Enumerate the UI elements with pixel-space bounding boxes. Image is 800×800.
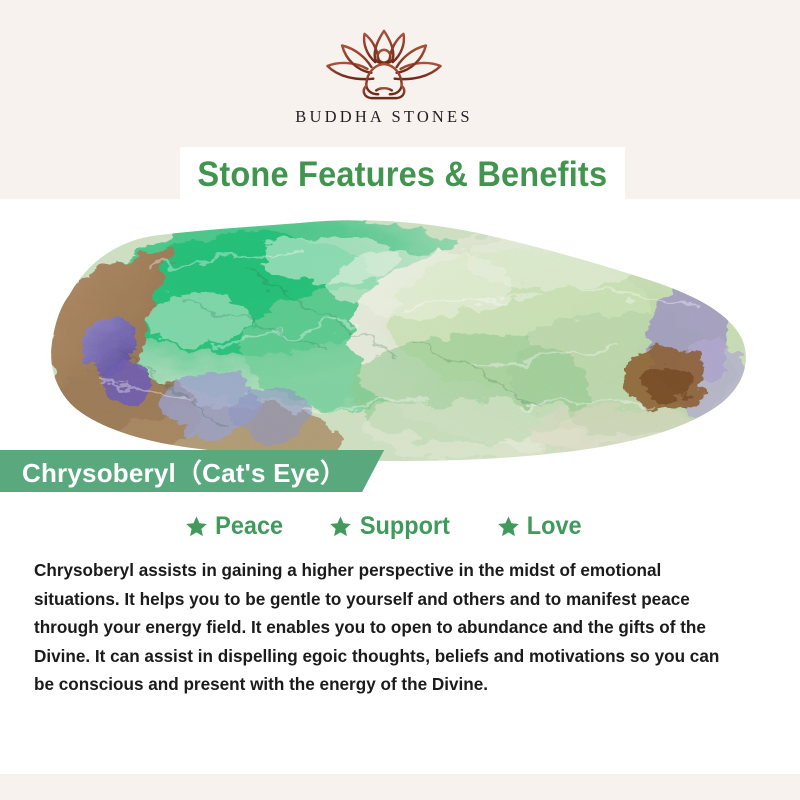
content-area: Peace Support Love Chrysoberyl assists i… [0, 504, 800, 774]
header: BUDDHA STONES Stone Features & Benefits [0, 0, 800, 199]
benefits-list: Peace Support Love [0, 512, 768, 541]
page-title-band: Stone Features & Benefits [180, 147, 625, 203]
brand-logo: BUDDHA STONES [0, 26, 768, 146]
benefit-label: Love [527, 512, 582, 541]
benefit-label: Peace [215, 512, 283, 541]
stone-description: Chrysoberyl assists in gaining a higher … [34, 556, 735, 699]
star-icon [185, 515, 208, 538]
header-inner: BUDDHA STONES Stone Features & Benefits [0, 16, 768, 199]
stone-name-banner: Chrysoberyl（Cat's Eye） [0, 450, 384, 492]
lotus-meditation-icon [309, 26, 459, 104]
footer-padding [0, 774, 800, 800]
benefit-label: Support [360, 512, 450, 541]
benefit-item-love: Love [497, 512, 583, 541]
infographic-card: BUDDHA STONES Stone Features & Benefits [0, 0, 800, 800]
brand-name: BUDDHA STONES [295, 107, 472, 127]
benefit-item-peace: Peace [185, 512, 285, 541]
stone-name-label: Chrysoberyl（Cat's Eye） [22, 453, 346, 490]
page-title: Stone Features & Benefits [198, 155, 608, 195]
star-icon [497, 515, 520, 538]
star-icon [329, 515, 352, 538]
benefit-item-support: Support [329, 512, 453, 541]
